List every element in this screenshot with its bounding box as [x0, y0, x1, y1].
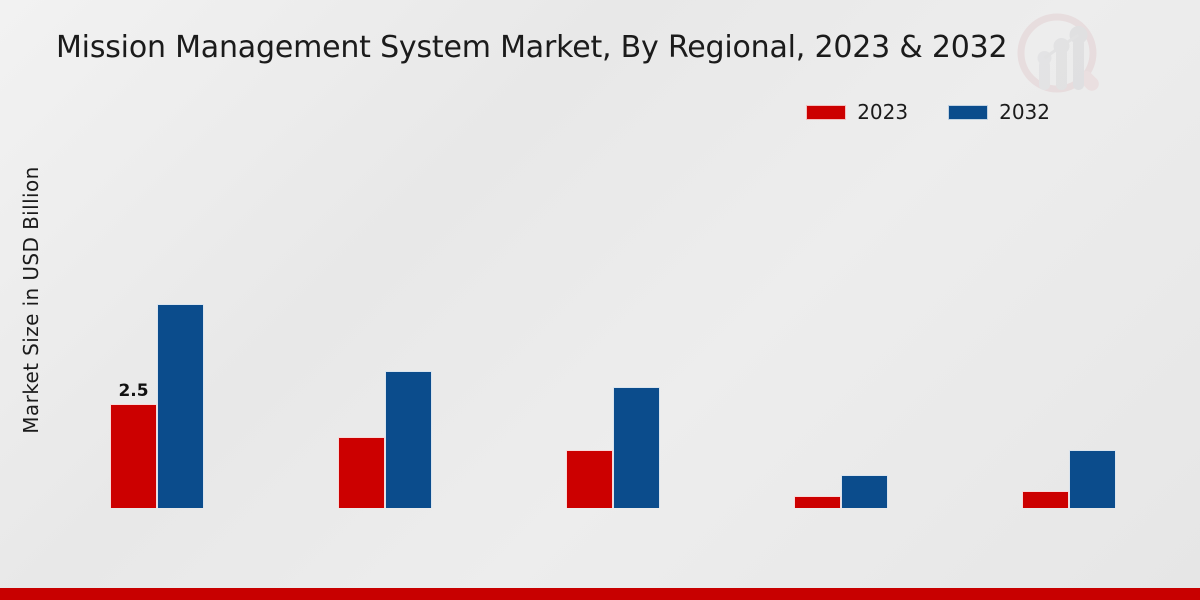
bar-group-2 — [566, 0, 660, 508]
footer-accent-band — [0, 588, 1200, 600]
bar-group-4 — [1022, 0, 1116, 508]
bar-1-2032[interactable] — [385, 371, 432, 508]
bar-group-1 — [338, 0, 432, 508]
bar-value-label-0-2023: 2.5 — [118, 381, 148, 401]
bar-1-2023[interactable] — [338, 437, 385, 508]
bar-4-2032[interactable] — [1069, 450, 1116, 508]
bar-0-2032[interactable] — [157, 304, 204, 508]
bar-2-2023[interactable] — [566, 450, 613, 508]
bar-group-3 — [794, 0, 888, 508]
chart-canvas: Mission Management System Market, By Reg… — [0, 0, 1200, 600]
bar-0-2023[interactable]: 2.5 — [110, 404, 157, 508]
plot-area: 2.5 NORTHAMERICA EUROPE APAC SOU — [46, 140, 1194, 508]
bar-3-2032[interactable] — [841, 475, 888, 508]
bar-3-2023[interactable] — [794, 496, 841, 508]
bar-2-2032[interactable] — [613, 387, 660, 508]
bar-group-0: 2.5 — [110, 0, 204, 508]
y-axis-title: Market Size in USD Billion — [14, 0, 48, 600]
legend-swatch-2032 — [948, 105, 988, 120]
bar-4-2023[interactable] — [1022, 491, 1069, 508]
